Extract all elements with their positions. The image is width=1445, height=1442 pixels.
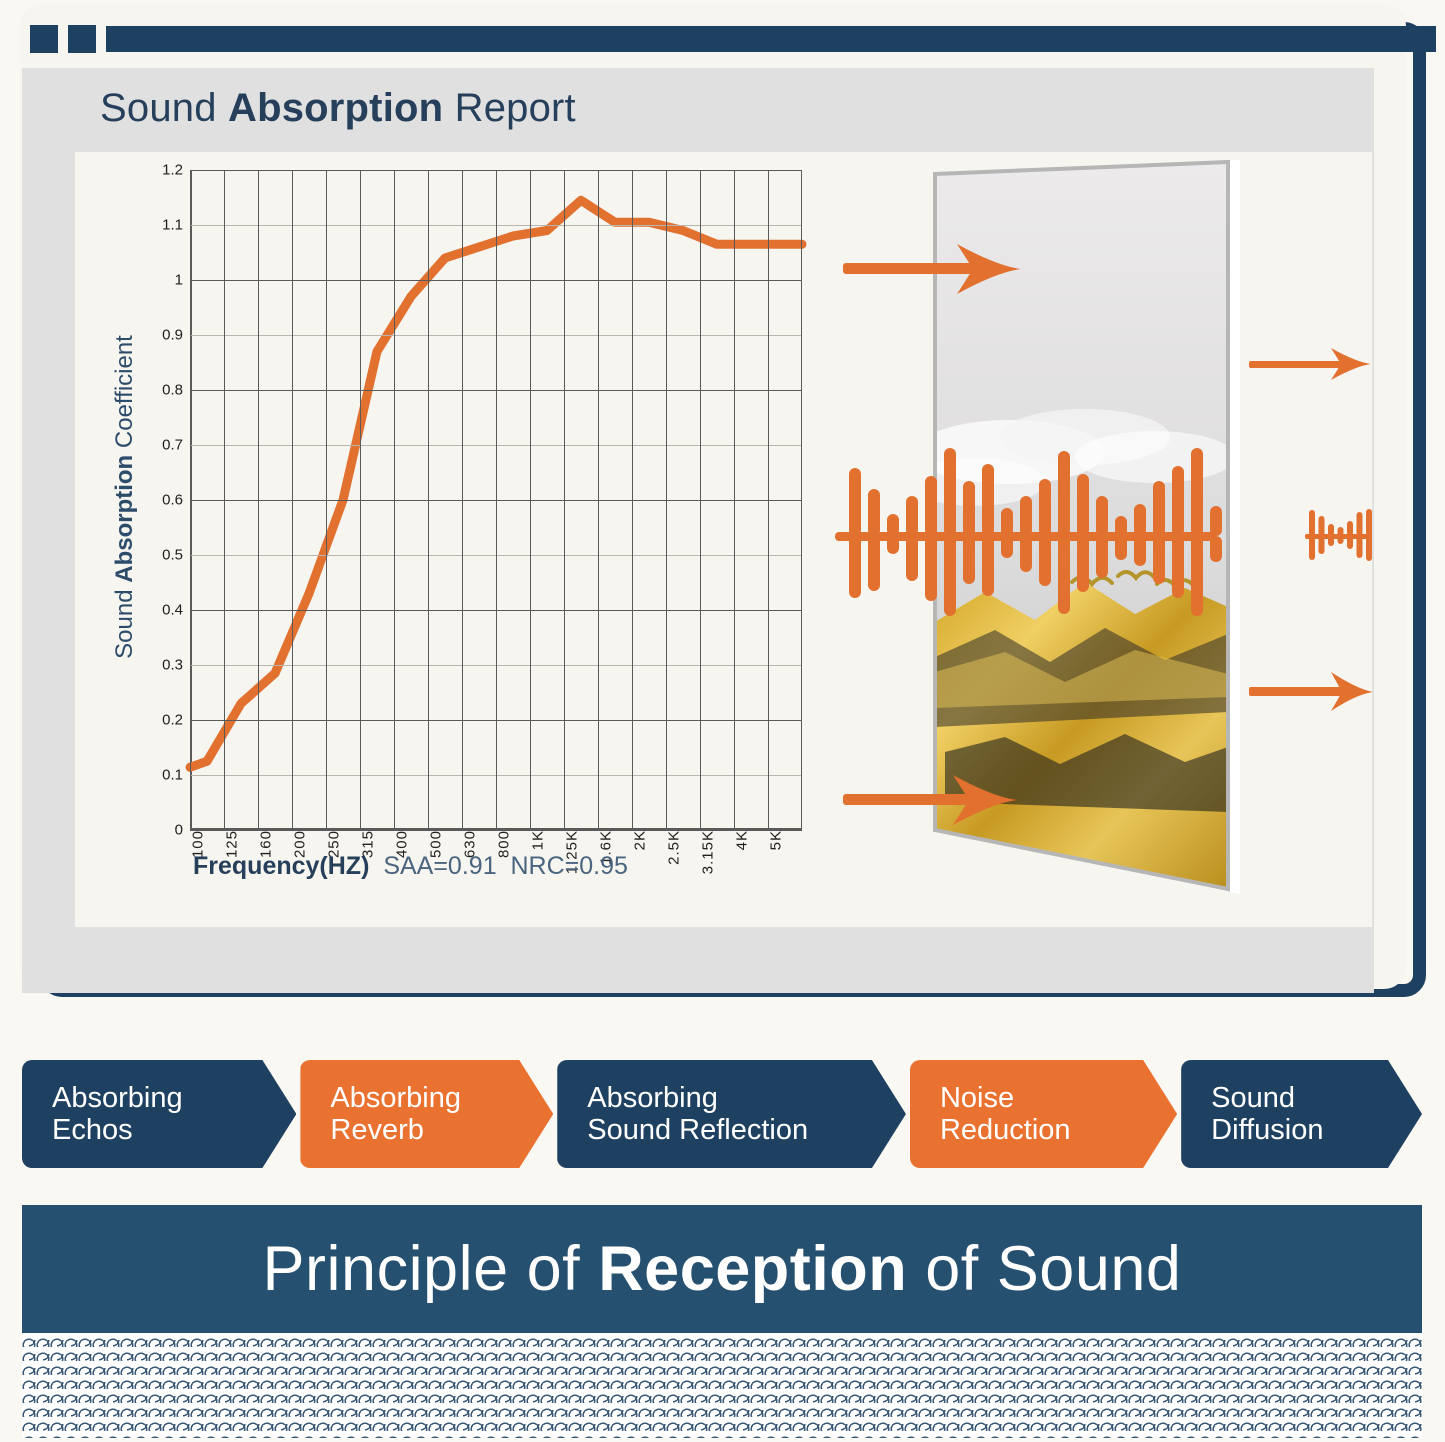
y-axis-label-suffix: Coefficient [111,335,138,455]
grid-line-vertical [801,170,802,830]
grid-line-vertical [292,170,293,830]
waveform-bar [1210,506,1222,536]
y-axis-tick: 0.3 [162,657,183,674]
feature-tag[interactable]: AbsorbingReverb [300,1060,553,1168]
grid-line-vertical [360,170,361,830]
saa-value: SAA=0.91 [383,852,496,880]
feature-tag[interactable]: NoiseReduction [910,1060,1177,1168]
waveform-bar [849,468,861,536]
waveform-bar [1191,448,1203,536]
waveform-bar [944,448,956,536]
y-axis-tick: 1.1 [162,217,183,234]
waveform-bar [1366,509,1372,536]
arrow-outgoing-top [1249,348,1371,380]
waveform-bar [1328,524,1334,536]
y-axis-tick: 0.9 [162,327,183,344]
grid-line-vertical [394,170,395,830]
grid-line-vertical [258,170,259,830]
waveform-bar [1077,474,1089,536]
waveform-bar [906,496,918,536]
y-axis-tick: 0.6 [162,492,183,509]
waveform-bar [963,536,975,584]
x-axis-tick: 1K [530,830,547,850]
waveform-bar [1319,536,1325,554]
waveform-bar [1020,536,1032,572]
nrc-value: NRC=0.95 [511,852,628,880]
waveform-bar [1115,516,1127,536]
grid-line-vertical [700,170,701,830]
waveform-bar [1210,536,1222,562]
waveform-bar [944,536,956,616]
waveform-bar [868,489,880,536]
window-square-icon [68,25,96,53]
feature-tag-row: AbsorbingEchosAbsorbingReverbAbsorbingSo… [22,1060,1422,1168]
feature-tag[interactable]: AbsorbingEchos [22,1060,296,1168]
feature-tag-line2: Echos [52,1114,296,1146]
feature-tag-line2: Reverb [330,1114,553,1146]
waveform-bar [1134,504,1146,536]
feature-tag-line2: Sound Reflection [587,1114,906,1146]
waveform-bar [1366,536,1372,561]
waveform-bar [1347,521,1353,536]
x-axis-tick-wrap: 5K [776,830,793,850]
x-axis-tick-wrap: 2.5K [674,830,691,865]
waveform-bar [982,464,994,536]
x-axis-tick: 4K [734,830,751,850]
window-titlebar [30,25,1436,53]
waveform-bar [887,536,899,554]
waveform-bar [849,536,861,598]
grid-line-vertical [564,170,565,830]
waveform-bar [1172,536,1184,598]
waveform-bar [925,476,937,536]
waveform-bar [868,536,880,591]
waveform-bar [1134,536,1146,566]
chart-footer: Frequency(HZ) SAA=0.91 NRC=0.95 [193,852,628,881]
waveform-bar [1039,479,1051,536]
x-axis-tick-wrap: 4K [742,830,759,850]
x-axis-tick-wrap: 1K [538,830,555,850]
feature-tag-line1: Noise [940,1082,1177,1114]
waveform-bar [1115,536,1127,560]
feature-tag[interactable]: SoundDiffusion [1181,1060,1422,1168]
waveform-bar [1096,536,1108,578]
waveform-bar [925,536,937,601]
x-axis-tick: 3.15K [700,830,717,874]
y-axis-tick: 0.8 [162,382,183,399]
waveform-bar [963,481,975,536]
waveform-bar [1328,536,1334,546]
wave-pattern-strip [22,1333,1422,1438]
waveform-bar [1338,527,1344,536]
window-square-icon [30,25,58,53]
waveform-bar [1319,516,1325,536]
feature-tag-line1: Absorbing [587,1082,906,1114]
banner-title: Principle of Reception of Sound [263,1233,1182,1305]
feature-tag-line1: Sound [1211,1082,1422,1114]
waveform-bar [1172,466,1184,536]
grid-line-vertical [496,170,497,830]
y-axis-tick: 1 [175,272,183,289]
waveform-bar [1338,536,1344,544]
arrow-outgoing-bottom [1249,672,1372,711]
panel-illustration [835,152,1372,927]
y-axis-tick: 0.4 [162,602,183,619]
waveform-bar [1309,510,1315,536]
grid-line-vertical [598,170,599,830]
y-axis-tick: 0.5 [162,547,183,564]
waveform-bar [1020,496,1032,536]
plot-grid: 00.10.20.30.40.50.60.70.80.911.11.210012… [190,170,802,830]
title-suffix: Report [443,86,576,130]
grid-line-vertical [666,170,667,830]
card-header: Sound Absorption Report [22,68,1374,148]
feature-tag-line1: Absorbing [330,1082,553,1114]
waveform-bar [1039,536,1051,586]
waveform-bar [1153,481,1165,536]
page-root: Sound Absorption Report Sound Absorption… [0,0,1445,1442]
x-axis-tick: 5K [768,830,785,850]
card-body: Sound Absorption Coefficient 00.10.20.30… [75,152,1372,927]
x-axis-tick-wrap: 2K [640,830,657,850]
feature-tag-line2: Reduction [940,1114,1177,1146]
x-axis-tick: 2.5K [666,830,683,865]
grid-line-vertical [462,170,463,830]
y-axis-tick: 0.7 [162,437,183,454]
waveform-bar [1309,536,1315,560]
x-axis-tick-wrap: 3.15K [708,830,725,874]
x-axis-tick: 2K [632,830,649,850]
title-prefix: Sound [100,86,228,130]
waveform-bar [1357,512,1363,536]
waveform-bar [1357,536,1363,558]
grid-line-vertical [190,170,191,830]
y-axis-label: Sound Absorption Coefficient [111,282,139,712]
grid-line-vertical [768,170,769,830]
banner-bold: Reception [598,1234,907,1304]
y-axis-tick: 0.1 [162,767,183,784]
grid-line-vertical [428,170,429,830]
report-card: Sound Absorption Report Sound Absorption… [22,68,1374,993]
y-axis-label-bold: Absorption [111,455,138,583]
waveform-bar [1347,536,1353,549]
waveform-bar [887,514,899,536]
waveform-bar [982,536,994,596]
y-axis-tick: 0.2 [162,712,183,729]
waveform-bar [1077,536,1089,592]
feature-tag[interactable]: AbsorbingSound Reflection [557,1060,906,1168]
page-title: Sound Absorption Report [100,86,576,131]
waveform-bar [1153,536,1165,584]
waveform-bar [1191,536,1203,616]
plot-region: 00.10.20.30.40.50.60.70.80.911.11.210012… [140,170,802,830]
banner-prefix: Principle of [263,1234,599,1304]
waveform-bar [1096,496,1108,536]
waveform-bar [1001,536,1013,558]
title-bold: Absorption [228,86,443,130]
grid-line-vertical [530,170,531,830]
feature-tag-line2: Diffusion [1211,1114,1422,1146]
y-axis-label-prefix: Sound [111,583,138,659]
window-titlebar-bar [106,26,1436,52]
x-axis-label: Frequency(HZ) [193,852,369,880]
absorption-chart: Sound Absorption Coefficient 00.10.20.30… [75,152,865,927]
banner-suffix: of Sound [907,1234,1181,1304]
waveform-bar [1058,536,1070,614]
bottom-banner: Principle of Reception of Sound [22,1205,1422,1333]
y-axis-tick: 0 [175,822,183,839]
waveform-bar [1001,508,1013,536]
y-axis-tick: 1.2 [162,162,183,179]
grid-line-vertical [326,170,327,830]
grid-line-vertical [224,170,225,830]
grid-line-vertical [632,170,633,830]
feature-tag-line1: Absorbing [52,1082,296,1114]
waveform-bar [1058,451,1070,536]
grid-line-vertical [734,170,735,830]
waveform-bar [906,536,918,581]
